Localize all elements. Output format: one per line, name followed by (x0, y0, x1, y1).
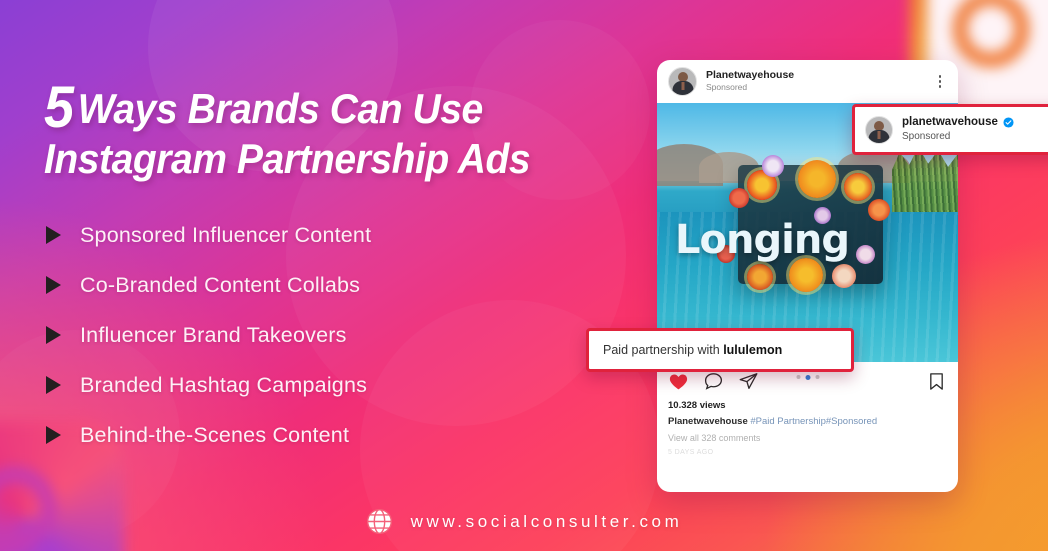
carousel-dot-active[interactable] (805, 375, 810, 380)
list-item: Sponsored Influencer Content (46, 210, 606, 260)
callout-verified-user: planetwavehouse Sponsored (852, 104, 1048, 155)
comment-icon[interactable] (703, 371, 724, 392)
post-header: Planetwayehouse Sponsored (657, 60, 958, 103)
list-item: Influencer Brand Takeovers (46, 310, 606, 360)
post-meta: 10.328 views Planetwavehouse #Paid Partn… (657, 396, 958, 458)
verified-badge-icon (1003, 117, 1014, 128)
post-image-overlay-text: Longing (675, 217, 849, 263)
globe-icon (366, 508, 393, 535)
triangle-bullet-icon (46, 226, 61, 244)
share-icon[interactable] (738, 371, 759, 392)
carousel-dot[interactable] (815, 375, 819, 379)
headline-number: 5 (44, 75, 72, 140)
list-item-label: Co-Branded Content Collabs (80, 273, 360, 298)
carousel-indicator (796, 375, 819, 380)
list-item-label: Behind-the-Scenes Content (80, 423, 349, 448)
flower (762, 155, 784, 177)
page-title: 5Ways Brands Can Use Instagram Partnersh… (44, 82, 604, 179)
flower (747, 264, 773, 290)
poster-canvas: 5Ways Brands Can Use Instagram Partnersh… (0, 0, 1048, 551)
flower (844, 173, 872, 201)
paid-partnership-brand: lululemon (723, 343, 782, 357)
post-timestamp: 5 DAYS AGO (668, 448, 947, 458)
website-url[interactable]: www.socialconsulter.com (411, 512, 683, 532)
feature-list: Sponsored Influencer Content Co-Branded … (46, 210, 606, 460)
callout-subtitle: Sponsored (902, 131, 1014, 143)
list-item-label: Branded Hashtag Campaigns (80, 373, 367, 398)
caption-hashtags[interactable]: #Paid Partnership#Sponsored (750, 416, 877, 427)
triangle-bullet-icon (46, 276, 61, 294)
triangle-bullet-icon (46, 376, 61, 394)
list-item-label: Influencer Brand Takeovers (80, 323, 347, 348)
post-caption: Planetwavehouse #Paid Partnership#Sponso… (668, 415, 947, 429)
triangle-bullet-icon (46, 326, 61, 344)
flower (868, 199, 890, 221)
headline-line-1: Ways Brands Can Use (78, 85, 483, 132)
bookmark-icon[interactable] (926, 371, 947, 392)
headline-line-2: Instagram Partnership Ads (44, 138, 565, 179)
list-item: Branded Hashtag Campaigns (46, 360, 606, 410)
avatar (865, 116, 893, 144)
view-comments-link[interactable]: View all 328 comments (668, 432, 947, 445)
post-subtitle: Sponsored (706, 83, 932, 93)
list-item-label: Sponsored Influencer Content (80, 223, 371, 248)
view-count: 10.328 views (668, 399, 947, 413)
triangle-bullet-icon (46, 426, 61, 444)
flower (832, 264, 856, 288)
callout-paid-partnership: Paid partnership with lululemon (586, 328, 854, 372)
caption-author[interactable]: Planetwavehouse (668, 416, 748, 427)
footer: www.socialconsulter.com (0, 508, 1048, 535)
more-options-icon[interactable] (932, 75, 948, 88)
heart-icon[interactable] (668, 371, 689, 392)
list-item: Co-Branded Content Collabs (46, 260, 606, 310)
paid-partnership-prefix: Paid partnership with (603, 343, 723, 357)
flower (856, 245, 875, 264)
carousel-dot[interactable] (796, 375, 800, 379)
list-item: Behind-the-Scenes Content (46, 410, 606, 460)
callout-username[interactable]: planetwavehouse (902, 116, 998, 130)
avatar (668, 67, 697, 96)
post-username[interactable]: Planetwayehouse (706, 70, 932, 82)
